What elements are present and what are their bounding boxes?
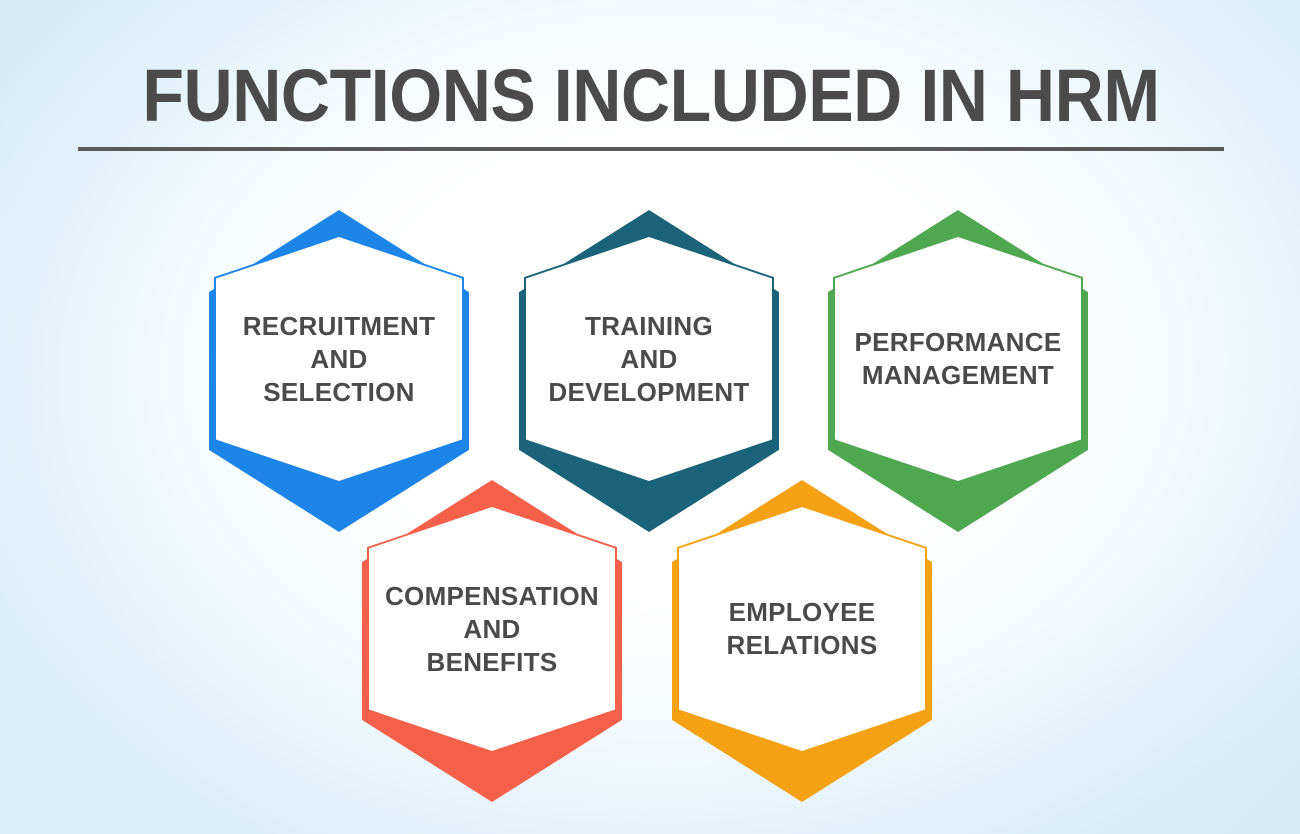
page-title: FUNCTIONS INCLUDED IN HRM (124, 56, 1178, 136)
hex-node-compensation-and-benefits[interactable]: COMPENSATION AND BENEFITS (362, 480, 622, 802)
hex-label-performance-management: PERFORMANCE MANAGEMENT (828, 236, 1088, 482)
title-underline-rule (78, 147, 1224, 151)
hex-label-employee-relations: EMPLOYEE RELATIONS (672, 506, 932, 752)
hex-label-training-and-development: TRAINING AND DEVELOPMENT (519, 236, 779, 482)
hex-label-recruitment-and-selection: RECRUITMENT AND SELECTION (209, 236, 469, 482)
title-block: FUNCTIONS INCLUDED IN HRM (78, 56, 1224, 151)
infographic-canvas: FUNCTIONS INCLUDED IN HRM RECRUITMENT AN… (0, 0, 1300, 834)
hex-node-employee-relations[interactable]: EMPLOYEE RELATIONS (672, 480, 932, 802)
hex-label-compensation-and-benefits: COMPENSATION AND BENEFITS (362, 506, 622, 752)
